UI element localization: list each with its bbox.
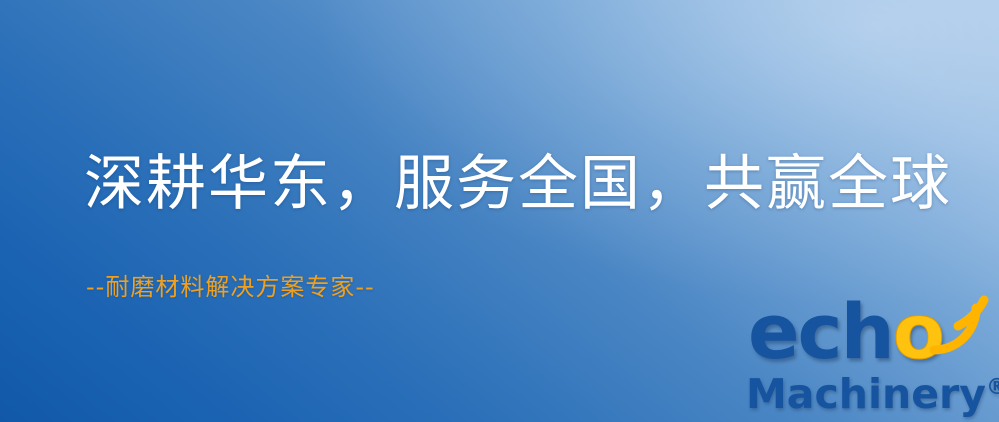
logo-subword: Machinery® <box>746 370 999 418</box>
echo-machinery-logo[interactable]: echo Machinery® <box>742 294 994 422</box>
logo-wordmark-prefix: ech <box>748 287 893 376</box>
logo-wordmark: echo <box>748 294 943 370</box>
signal-waves-icon <box>918 292 992 356</box>
registered-trademark-icon: ® <box>986 375 999 400</box>
headline-text: 深耕华东，服务全国，共赢全球 <box>84 152 952 217</box>
subtitle-text: --耐磨材料解决方案专家-- <box>86 267 375 302</box>
logo-subword-text: Machinery <box>746 370 986 418</box>
hero-banner: 深耕华东，服务全国，共赢全球 --耐磨材料解决方案专家-- echo Machi… <box>0 0 999 422</box>
